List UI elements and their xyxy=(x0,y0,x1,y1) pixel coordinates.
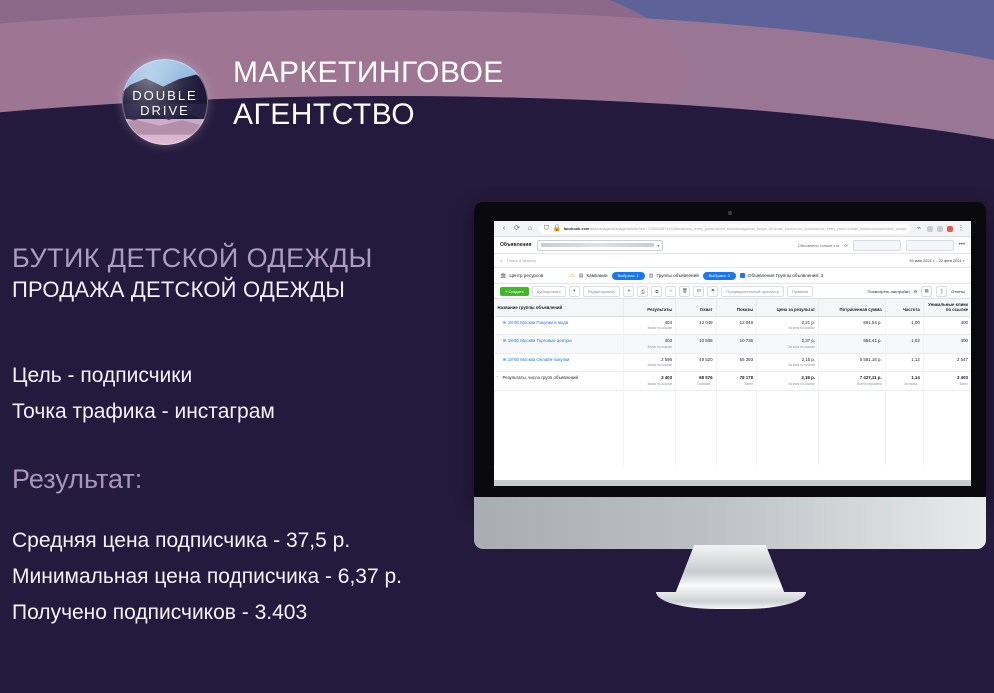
column-header-spend[interactable]: Потраченная сумма xyxy=(819,299,886,316)
tag-icon[interactable]: ⚑ xyxy=(707,286,718,297)
cell-total-cpr: 2,18 р.За клик по ссылке xyxy=(757,372,819,391)
cell-results-sub: Клики по ссылке xyxy=(627,326,672,331)
action-toolbar: + Создать Дублировать ▾ Редактировать ▾ … xyxy=(494,284,971,299)
extensions-icon[interactable]: ⌁ xyxy=(915,225,923,233)
cell-unique-clicks: 2 547 xyxy=(923,353,971,372)
cell-frequency: 1,02 xyxy=(885,335,923,354)
adsets-selected-label: Выбрано: 3 xyxy=(709,273,730,278)
campaigns-selected-label: Выбрано: 1 xyxy=(618,273,639,278)
monitor-screen: ‹ ⟳ ⌂ ⛉ 🔒 facebook.com/adsmanager/manage… xyxy=(494,221,971,486)
duplicate-button[interactable]: Дублировать xyxy=(532,286,566,297)
cell-impressions: 12 049 xyxy=(716,316,757,335)
table-row[interactable]: Ж 18-50 Москва Торговые центры 403Клики … xyxy=(495,335,972,354)
cell-cost-per-result: 2,15 р.За клик по ссылке xyxy=(757,353,819,372)
cell-total-freq-sub: За польз... xyxy=(889,382,920,387)
column-header-results[interactable]: Результаты xyxy=(623,299,675,316)
reports-button[interactable]: Отчеты xyxy=(951,289,965,294)
cell-reach: 12 049 xyxy=(676,316,717,335)
warning-icon: ⚠ xyxy=(569,272,574,279)
table-header-row: Название группы объявлений Результаты Ох… xyxy=(495,299,972,316)
cell-frequency: 1,12 xyxy=(885,353,923,372)
agency-headline: МАРКЕТИНГОВОЕ АГЕНТСТВО xyxy=(233,52,653,136)
discard-changes-button[interactable] xyxy=(853,240,901,251)
table-body: Ж 18-50 Москва Покупки и мода 404Клики п… xyxy=(495,316,972,465)
cell-total-spend-value: 7 427,11 р. xyxy=(860,375,882,380)
reload-icon[interactable]: ⟳ xyxy=(513,225,521,233)
cell-cpr-value: 2,21 р. xyxy=(802,320,815,325)
goal-text: Цель - подписчики xyxy=(12,364,192,388)
cell-total-unique-clicks: 3 403Всего xyxy=(923,372,971,391)
menu-icon[interactable]: ⋮ xyxy=(957,225,965,233)
tab-resource-center[interactable]: 🏛 Центр ресурсов xyxy=(500,273,543,279)
columns-button[interactable]: ▦ xyxy=(921,286,932,297)
double-drive-logo: DOUBLE DRIVE xyxy=(122,59,208,145)
address-bar[interactable]: ⛉ 🔒 facebook.com/adsmanager/manage/adset… xyxy=(539,224,910,234)
cell-unique-clicks: 400 xyxy=(923,316,971,335)
table-row[interactable]: Ж 18-50 Москва Покупки и мода 404Клики п… xyxy=(495,316,972,335)
result-avg-price: Средняя цена подписчика - 37,5 р. xyxy=(12,529,350,553)
star-icon[interactable]: ☆ xyxy=(665,286,676,297)
adsets-table: Название группы объявлений Результаты Ох… xyxy=(494,299,971,465)
cell-results-sub: Клики по ссылке xyxy=(627,363,672,368)
adset-icon: ▥ xyxy=(649,273,654,279)
table-header: Название группы объявлений Результаты Ох… xyxy=(495,299,972,316)
cell-total-label[interactable]: ›Результаты, число групп объявлений xyxy=(495,372,624,391)
breakdown-button[interactable]: ⫿ xyxy=(936,286,947,297)
chevron-down-icon: ▾ xyxy=(657,243,659,248)
url-domain: facebook.com xyxy=(564,227,589,231)
browser-actions: ⌁ ⋮ xyxy=(915,225,965,233)
duplicate-caret-icon[interactable]: ▾ xyxy=(569,286,580,297)
empty-cell xyxy=(923,390,971,465)
cell-reach: 49 520 xyxy=(676,353,717,372)
cell-results: 2 596Клики по ссылке xyxy=(623,353,675,372)
cell-total-impr-value: 78 178 xyxy=(740,375,753,380)
cell-spend: 954,41 р. xyxy=(819,335,886,354)
cell-results: 404Клики по ссылке xyxy=(623,316,675,335)
cell-adset-name[interactable]: Ж 18-50 Москва Онлайн-покупки xyxy=(495,353,624,372)
table-total-row: ›Результаты, число групп объявлений 3 40… xyxy=(495,372,972,391)
cell-total-freq-value: 1,14 xyxy=(911,375,920,380)
cell-total-spend: 7 427,11 р.Всего потрачено xyxy=(819,372,886,391)
webcam-icon xyxy=(728,211,732,215)
result-min-price: Минимальная цена подписчика - 6,37 р. xyxy=(12,565,402,589)
client-subtitle: ПРОДАЖА ДЕТСКОЙ ОДЕЖДЫ xyxy=(12,277,345,303)
column-header-impressions[interactable]: Показы xyxy=(716,299,757,316)
monitor-chin xyxy=(474,497,986,549)
back-icon[interactable]: ‹ xyxy=(500,225,508,233)
browser-toolbar: ‹ ⟳ ⌂ ⛉ 🔒 facebook.com/adsmanager/manage… xyxy=(494,221,971,237)
preview-button[interactable]: Предварительный просмотр xyxy=(721,286,784,297)
cell-cost-per-result: 2,21 р.За клик по ссылке xyxy=(757,316,819,335)
ad-account-name xyxy=(541,243,654,247)
home-icon[interactable]: ⌂ xyxy=(526,225,534,233)
bank-icon: 🏛 xyxy=(500,273,506,279)
cell-total-reach-value: 68 576 xyxy=(699,375,712,380)
traffic-source-text: Точка трафика - инстаграм xyxy=(12,400,275,424)
cell-frequency: 1,00 xyxy=(885,316,923,335)
tab-adsets[interactable]: ▥ Группы объявлений xyxy=(649,273,699,279)
empty-cell xyxy=(716,390,757,465)
date-range-picker[interactable]: 15 мая 2021 г. - 22 фев 2021 г. xyxy=(909,258,965,263)
cell-cpr-value: 2,15 р. xyxy=(802,357,815,362)
empty-cell xyxy=(676,390,717,465)
ad-account-selector[interactable]: ▾ xyxy=(537,240,663,251)
campaign-icon: ▤ xyxy=(579,273,584,279)
url-path: /adsmanager/manage/adsets?act=7339000874… xyxy=(589,227,906,231)
tab-resource-center-label: Центр ресурсов xyxy=(509,273,543,278)
rules-button[interactable]: Правила xyxy=(787,286,813,297)
cell-total-uc-sub: Всего xyxy=(927,382,968,387)
review-and-publish-button[interactable] xyxy=(906,240,954,251)
edit-caret-icon[interactable]: ▾ xyxy=(623,286,634,297)
headline-line-1: МАРКЕТИНГОВОЕ xyxy=(233,52,653,94)
archive-icon[interactable]: ⊟ xyxy=(693,286,704,297)
cell-total-frequency: 1,14За польз... xyxy=(885,372,923,391)
logo-ring xyxy=(122,59,208,145)
level-tabs-bar: 🏛 Центр ресурсов ⚠ ▤ Кампании Выбрано: 1… xyxy=(494,268,971,284)
cell-results: 403Клики по ссылке xyxy=(623,335,675,354)
cell-results-value: 403 xyxy=(665,338,672,343)
column-header-reach[interactable]: Охват xyxy=(676,299,717,316)
column-header-cost-per-result[interactable]: Цена за результат xyxy=(757,299,819,316)
tab-adsets-label: Группы объявлений xyxy=(656,273,698,278)
cell-impressions: 55 393 xyxy=(716,353,757,372)
search-input[interactable]: Поиск и фильтр xyxy=(507,258,536,263)
cell-adset-name[interactable]: Ж 18-50 Москва Торговые центры xyxy=(495,335,624,354)
cell-cpr-sub: За клик по ссылке xyxy=(760,326,815,331)
notification-icon[interactable] xyxy=(947,226,953,232)
cell-results-value: 2 596 xyxy=(661,357,672,362)
settings-gear-icon[interactable]: ⚙ xyxy=(914,289,918,294)
cell-results-value: 404 xyxy=(665,320,672,325)
profile-icon[interactable] xyxy=(937,226,943,232)
cell-impressions: 10 736 xyxy=(716,335,757,354)
cell-adset-name[interactable]: Ж 18-50 Москва Покупки и мода xyxy=(495,316,624,335)
cell-spend: 5 581,16 р. xyxy=(819,353,886,372)
refresh-icon[interactable]: ⟳ xyxy=(844,243,847,248)
cell-total-impressions: 78 178Всего xyxy=(716,372,757,391)
screen-bottom-strip xyxy=(494,480,971,486)
cell-total-results-value: 3 403 xyxy=(661,375,672,380)
copy-icon[interactable]: ⧉ xyxy=(651,286,662,297)
lock-icon: 🔒 xyxy=(553,225,561,233)
search-filter-bar: ⌕ Поиск и фильтр 15 мая 2021 г. - 22 фев… xyxy=(494,254,971,268)
tab-campaigns[interactable]: ▤ Кампании xyxy=(579,273,608,279)
cell-cost-per-result: 2,37 р.За клик по ссылке xyxy=(757,335,819,354)
ads-manager-header: Объявления ▾ Обновлено только что ⟳ ••• xyxy=(494,237,971,254)
header-actions: Обновлено только что ⟳ ••• xyxy=(798,240,965,251)
cell-total-reach: 68 576Пользов... xyxy=(676,372,717,391)
column-header-frequency[interactable]: Частота xyxy=(885,299,923,316)
cell-reach: 10 508 xyxy=(676,335,717,354)
shield-icon: ⛉ xyxy=(543,225,550,233)
adsets-selected-chip[interactable]: Выбрано: 3 xyxy=(703,272,736,280)
view-settings-label[interactable]: Посмотреть настройки xyxy=(867,289,909,294)
empty-cell xyxy=(885,390,923,465)
client-title: БУТИК ДЕТСКОЙ ОДЕЖДЫ xyxy=(12,243,373,274)
bookmark-icon[interactable] xyxy=(927,226,933,232)
cell-results-sub: Клики по ссылке xyxy=(627,345,672,350)
tab-campaigns-label: Кампании xyxy=(586,273,607,278)
cell-spend: 891,54 р. xyxy=(819,316,886,335)
tab-ads-label: Объявления Группы объявлений: 3 xyxy=(748,273,823,278)
cell-total-spend-sub: Всего потрачено xyxy=(822,382,882,387)
table-row[interactable]: Ж 18-50 Москва Онлайн-покупки 2 596Клики… xyxy=(495,353,972,372)
expand-icon[interactable]: › xyxy=(497,374,498,379)
result-label: Результат: xyxy=(12,464,142,495)
cell-total-results: 3 403Клики по ссылке xyxy=(623,372,675,391)
cell-total-reach-sub: Пользов... xyxy=(679,382,713,387)
search-icon: ⌕ xyxy=(500,258,503,264)
headline-line-2: АГЕНТСТВО xyxy=(233,94,653,136)
ad-square-icon xyxy=(740,273,745,278)
monitor-mockup: ‹ ⟳ ⌂ ⛉ 🔒 facebook.com/adsmanager/manage… xyxy=(474,202,986,502)
empty-cell xyxy=(819,390,886,465)
edit-button[interactable]: Редактировать xyxy=(583,286,621,297)
cell-total-cpr-value: 2,18 р. xyxy=(801,375,815,380)
lock-icon[interactable]: ⎙ xyxy=(637,286,648,297)
cell-total-results-sub: Клики по ссылке xyxy=(627,382,672,387)
table-empty-space xyxy=(495,390,972,465)
result-subscribers: Получено подписчиков - 3.403 xyxy=(12,601,307,625)
cell-cpr-sub: За клик по ссылке xyxy=(760,363,815,368)
cell-total-impr-sub: Всего xyxy=(720,382,754,387)
cell-cpr-sub: За клик по ссылке xyxy=(760,345,815,350)
column-header-unique-link-clicks[interactable]: Уникальные клики по ссылке xyxy=(923,299,971,316)
column-header-adset-name[interactable]: Название группы объявлений xyxy=(495,299,624,316)
tab-ads[interactable]: Объявления Группы объявлений: 3 xyxy=(740,273,823,278)
empty-cell xyxy=(623,390,675,465)
page-title: Объявления xyxy=(500,242,531,248)
trash-icon[interactable]: 🗑 xyxy=(679,286,690,297)
sync-status: Обновлено только что xyxy=(798,243,840,248)
cell-cpr-value: 2,37 р. xyxy=(802,338,815,343)
empty-cell xyxy=(757,390,819,465)
cell-total-cpr-sub: За клик по ссылке xyxy=(760,382,815,387)
cell-total-uc-value: 3 403 xyxy=(957,375,968,380)
url-text: facebook.com/adsmanager/manage/adsets?ac… xyxy=(564,227,906,231)
toolbar-right-group: Посмотреть настройки ⚙ ▦ ⫿ Отчеты xyxy=(867,286,965,297)
create-button[interactable]: + Создать xyxy=(500,287,529,296)
overflow-menu-icon[interactable]: ••• xyxy=(959,242,965,248)
campaigns-selected-chip[interactable]: Выбрано: 1 xyxy=(612,272,645,280)
cell-total-label-text: Результаты, число групп объявлений xyxy=(503,375,578,380)
empty-cell xyxy=(495,390,624,465)
cell-unique-clicks: 400 xyxy=(923,335,971,354)
